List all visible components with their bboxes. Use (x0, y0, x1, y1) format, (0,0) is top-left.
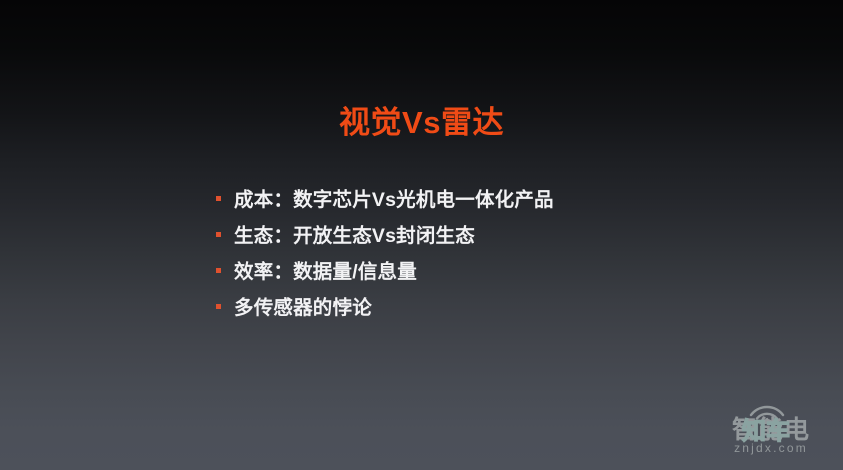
bullet-list: 成本：数字芯片Vs光机电一体化产品 生态：开放生态Vs封闭生态 效率：数据量/信… (216, 183, 816, 327)
bullet-marker-icon (216, 232, 221, 237)
list-item: 成本：数字芯片Vs光机电一体化产品 (216, 183, 816, 219)
watermark-domain: znjdx.com (707, 442, 835, 454)
watermark-cn-overlay-text: 知车 (707, 420, 825, 444)
wifi-signal-icon (745, 398, 789, 424)
bullet-marker-icon (216, 304, 221, 309)
bullet-text: 成本：数字芯片Vs光机电一体化产品 (234, 183, 816, 212)
slide-title: 视觉Vs雷达 (0, 104, 843, 143)
bullet-marker-icon (216, 268, 221, 273)
presentation-slide: 视觉Vs雷达 成本：数字芯片Vs光机电一体化产品 生态：开放生态Vs封闭生态 效… (0, 0, 843, 470)
bullet-text: 效率：数据量/信息量 (234, 255, 816, 284)
watermark: 智能电 知车 znjdx.com (707, 396, 835, 464)
bullet-marker-icon (216, 196, 221, 201)
bullet-text: 生态：开放生态Vs封闭生态 (234, 219, 816, 248)
bullet-text: 多传感器的悖论 (234, 291, 816, 320)
list-item: 多传感器的悖论 (216, 291, 816, 327)
watermark-cn-text: 智能电 (707, 418, 835, 443)
list-item: 生态：开放生态Vs封闭生态 (216, 219, 816, 255)
list-item: 效率：数据量/信息量 (216, 255, 816, 291)
